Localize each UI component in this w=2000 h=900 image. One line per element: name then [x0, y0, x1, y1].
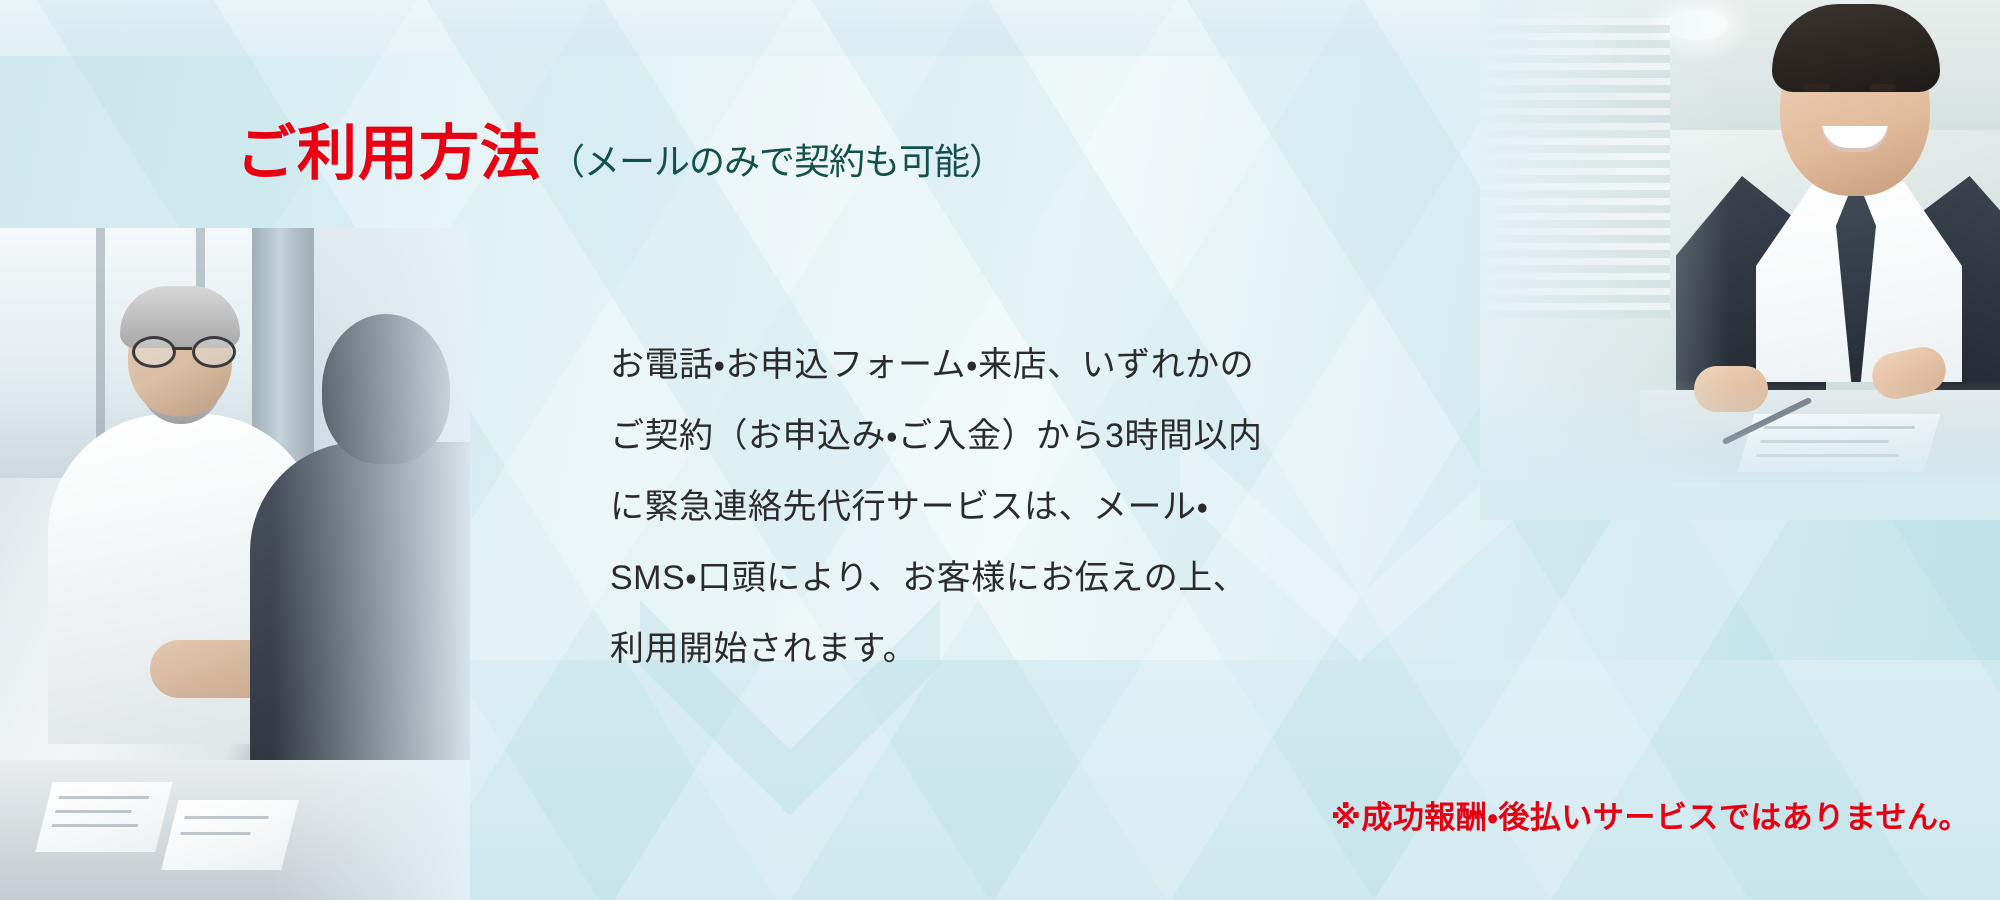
body-line: ご契約（お申込み・ご入金）から3時間以内 — [610, 401, 1262, 472]
meeting-table — [0, 760, 470, 900]
body-line: お電話・お申込フォーム・来店、いずれかの — [610, 330, 1262, 401]
document-paper — [35, 782, 172, 852]
headline-main-text: ご利用方法 — [236, 124, 541, 184]
window-blinds — [1480, 18, 1670, 318]
body-copy: お電話・お申込フォーム・来店、いずれかの ご契約（お申込み・ご入金）から3時間以… — [610, 330, 1262, 685]
eyeglasses-icon — [132, 336, 230, 362]
eye — [1870, 84, 1896, 91]
body-line: に緊急連絡先代行サービスは、メール・ — [610, 472, 1262, 543]
right-businessman-photo — [1480, 0, 2000, 482]
document-paper — [161, 800, 298, 870]
footnote-disclaimer: ※成功報酬・後払いサービスではありません。 — [1331, 792, 1970, 837]
body-line: SMS・口頭により、お客様にお伝えの上、 — [610, 543, 1262, 614]
left-hand — [1694, 366, 1768, 412]
suited-person-head — [322, 314, 450, 464]
eye — [1804, 84, 1830, 91]
left-meeting-photo — [0, 228, 470, 900]
headline: ご利用方法 （メールのみで契約も可能） — [236, 124, 1004, 184]
ceiling-lamp — [1666, 10, 1728, 40]
promo-banner: ご利用方法 （メールのみで契約も可能） お電話・お申込フォーム・来店、いずれかの… — [0, 0, 2000, 900]
headline-sub-text: （メールのみで契約も可能） — [549, 144, 1004, 180]
body-line: 利用開始されます。 — [610, 614, 1262, 685]
